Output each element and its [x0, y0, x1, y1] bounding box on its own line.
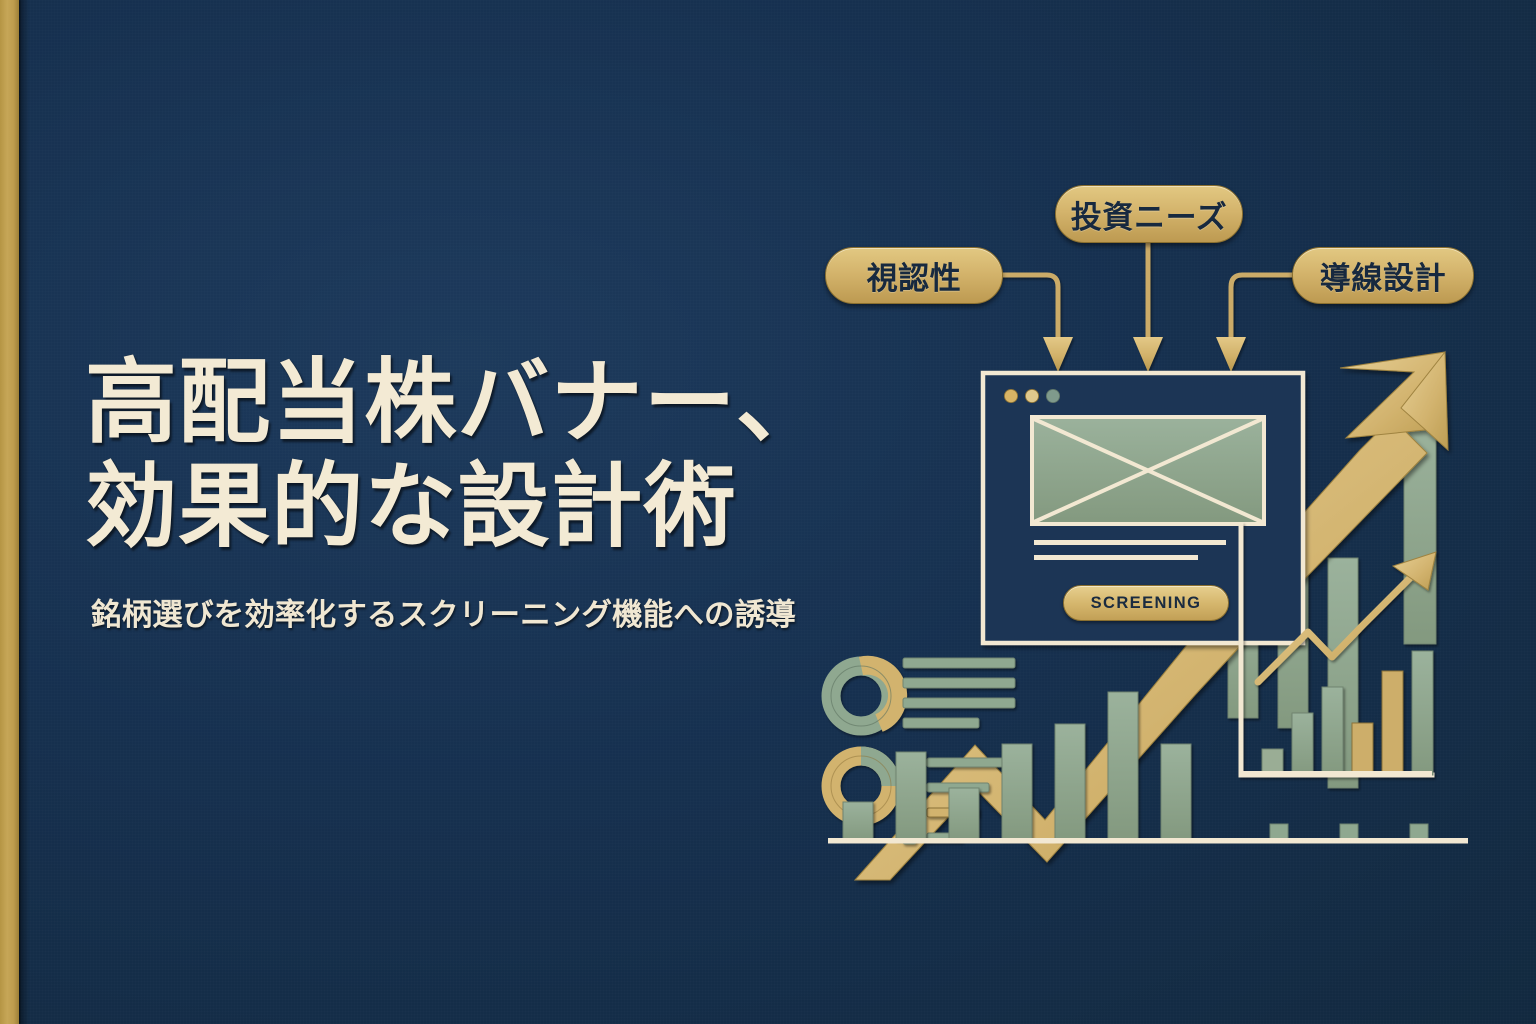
donut-chart-1: [831, 665, 898, 726]
left-gold-edge-strip: [0, 0, 19, 1024]
baseline-tick-3: [1410, 824, 1428, 840]
mockup-text-line-1: [1034, 540, 1226, 545]
inset-bar-6: [1412, 651, 1433, 775]
baseline-tick-1: [1270, 824, 1288, 840]
arrowhead-right: [1216, 337, 1246, 372]
arrowhead-left: [1043, 337, 1073, 372]
screening-cta-button[interactable]: SCREENING: [1063, 585, 1229, 621]
mockup-text-line-2: [1034, 555, 1198, 560]
main-bar-7: [1161, 744, 1191, 840]
main-bar-1: [843, 802, 873, 840]
window-dot-2: [1025, 389, 1038, 402]
pill-flow-design[interactable]: 導線設計: [1292, 247, 1474, 304]
inset-baseline: [1241, 771, 1432, 776]
inset-bar-2: [1292, 713, 1313, 775]
arrowhead-center: [1133, 337, 1163, 372]
window-dot-3: [1046, 389, 1059, 402]
bullet-line-1: [927, 758, 1005, 767]
inset-bar-3: [1322, 687, 1343, 775]
panel-line-4: [903, 718, 979, 728]
inset-bar-4: [1352, 723, 1373, 775]
main-bar-6: [1108, 692, 1138, 840]
connector-arrowheads: [1043, 337, 1246, 372]
panel-text-lines: [903, 658, 1015, 728]
baseline-tick-2: [1340, 824, 1358, 840]
title-line-1: 高配当株バナー、: [85, 352, 805, 456]
page-subtitle: 銘柄選びを効率化するスクリーニング機能への誘導: [91, 590, 805, 634]
main-baseline: [828, 838, 1468, 844]
main-bar-4: [1002, 744, 1032, 840]
main-bar-5: [1055, 724, 1085, 840]
connector-lines: [1001, 241, 1298, 338]
inset-bar-5: [1382, 671, 1403, 775]
panel-line-3: [903, 698, 1015, 708]
edge-strip-shadow: [19, 0, 29, 1024]
panel-line-2: [903, 678, 1015, 688]
poster-canvas: 高配当株バナー、 効果的な設計術 銘柄選びを効率化するスクリーニング機能への誘導: [0, 0, 1536, 1024]
window-dot-1: [1004, 389, 1017, 402]
pill-visibility[interactable]: 視認性: [825, 247, 1003, 304]
pill-investment-needs[interactable]: 投資ニーズ: [1055, 185, 1243, 243]
panel-line-1: [903, 658, 1015, 668]
title-line-2: 効果的な設計術: [85, 456, 805, 560]
main-bar-3: [949, 788, 979, 840]
page-title: 高配当株バナー、 効果的な設計術: [85, 352, 805, 560]
main-bar-2: [896, 752, 926, 840]
headline-block: 高配当株バナー、 効果的な設計術 銘柄選びを効率化するスクリーニング機能への誘導: [85, 352, 805, 634]
